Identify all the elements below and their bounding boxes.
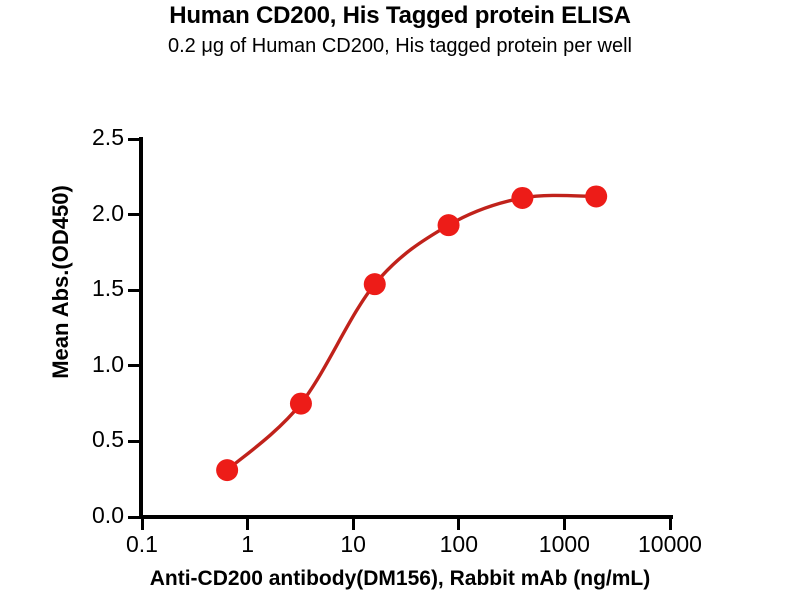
data-point bbox=[438, 214, 460, 236]
data-point bbox=[511, 187, 533, 209]
data-point bbox=[290, 393, 312, 415]
data-point-markers bbox=[216, 185, 607, 481]
data-point bbox=[216, 459, 238, 481]
data-point bbox=[585, 185, 607, 207]
fit-curve bbox=[227, 195, 596, 470]
data-point bbox=[364, 273, 386, 295]
elisa-chart-figure: Human CD200, His Tagged protein ELISA 0.… bbox=[0, 0, 800, 600]
data-plot-layer bbox=[0, 0, 800, 600]
